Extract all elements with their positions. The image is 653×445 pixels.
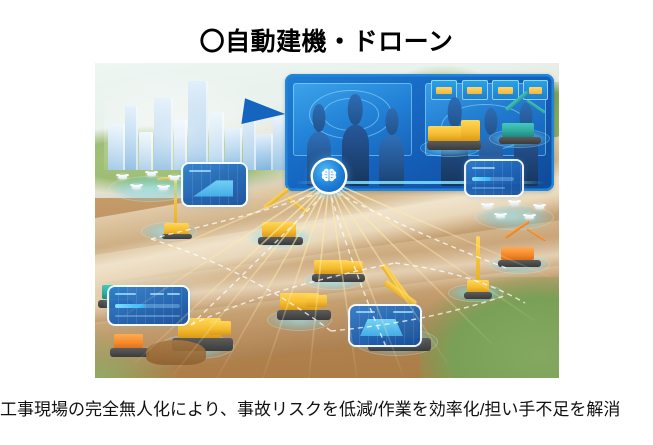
- telemetry-panel-chart: [183, 164, 246, 205]
- autonomous-excavator-teal: [494, 95, 554, 145]
- autonomous-excavator: [253, 189, 318, 246]
- drone: [170, 176, 179, 180]
- autonomous-construction-site-illustration: [95, 63, 559, 378]
- drone: [496, 214, 505, 218]
- drone: [525, 215, 534, 219]
- autonomous-pile-driver: [457, 236, 503, 299]
- drone: [118, 175, 127, 179]
- telemetry-panel-terrain: [350, 306, 420, 345]
- callout-pointer: [242, 98, 287, 130]
- drone: [159, 186, 168, 190]
- slide-caption: 工事現場の完全無人化により、事故リスクを低減/作業を効率化/担い手不足を解消: [0, 398, 653, 423]
- telemetry-panel-status: [109, 287, 188, 325]
- page-title: 〇自動建機・ドローン: [0, 22, 653, 58]
- survey-drone-swarm: [480, 198, 554, 226]
- operator-silhouette: [342, 125, 369, 186]
- drone: [535, 205, 544, 209]
- slide-page: 〇自動建機・ドローン: [0, 0, 653, 445]
- drone: [147, 172, 156, 176]
- dirt-pile: [146, 340, 206, 365]
- drone: [483, 204, 492, 208]
- autonomous-dump-truck: [424, 113, 484, 151]
- brain-icon: [319, 167, 339, 185]
- drone: [510, 201, 519, 205]
- camera-feed-thumb: [462, 80, 489, 100]
- autonomous-hauler: [308, 249, 368, 284]
- drone: [132, 185, 141, 189]
- survey-drone-swarm: [114, 170, 193, 198]
- operator-silhouette: [379, 135, 403, 186]
- telemetry-panel-vehicle: [466, 161, 522, 196]
